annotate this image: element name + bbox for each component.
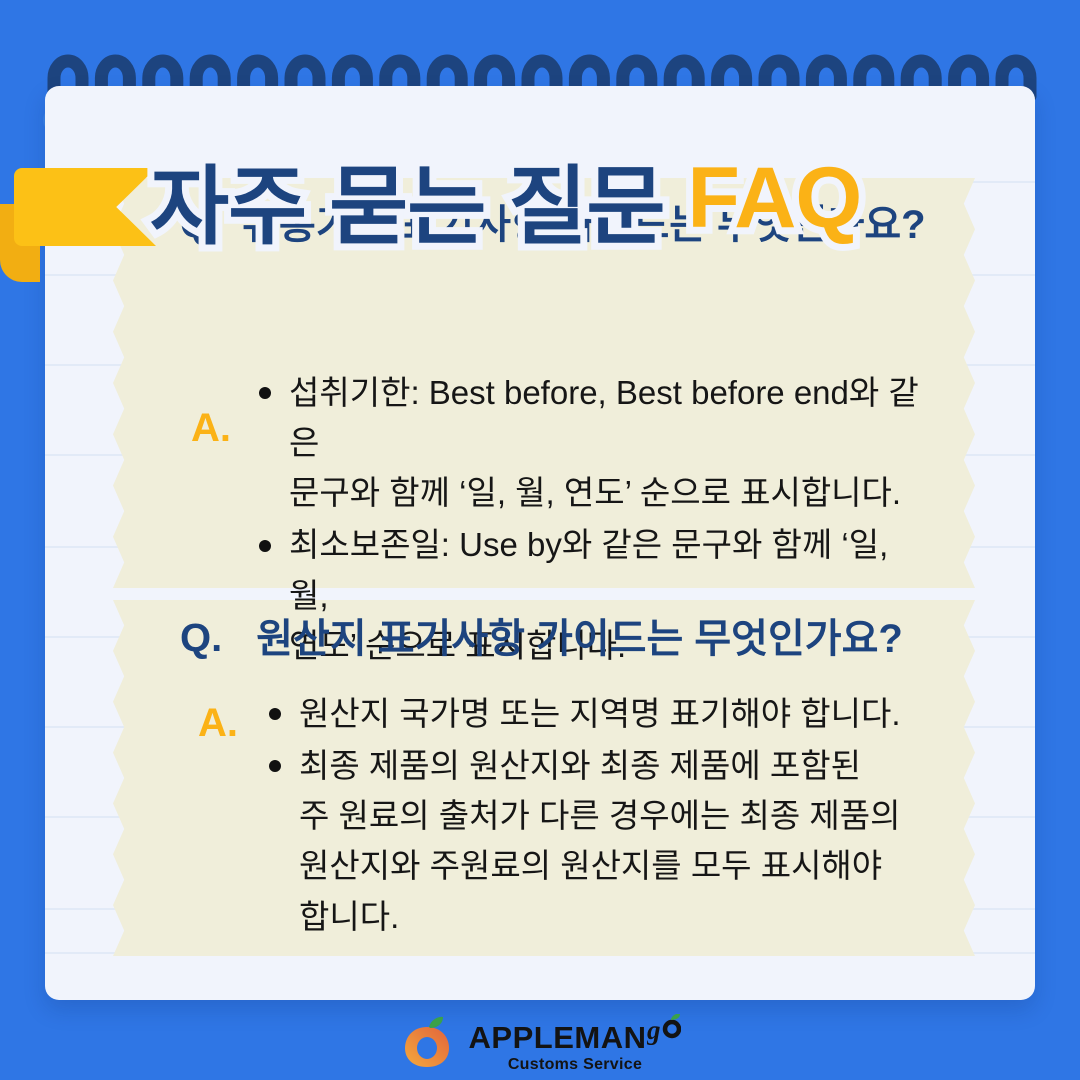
faq-2-answer-2-line-2: 주 원료의 출처가 다른 경우에는 최종 제품의 [299,797,901,834]
faq-2-answer-list: 원산지 국가명 또는 지역명 표기해야 합니다. 최종 제품의 원산지와 최종 … [263,689,943,944]
faq-2-answer-2-line-4: 합니다. [299,898,399,935]
brand-tagline: Customs Service [508,1057,642,1073]
faq-2-q-label: Q. [180,618,222,658]
faq-2-answer-2-line-1: 최종 제품의 원산지와 최종 제품에 포함된 [299,747,861,784]
brand-go-icon: g [647,1014,681,1048]
faq-2-answer-2-line-3: 원산지와 주원료의 원산지를 모두 표시해야 [299,847,882,884]
brand-wordmark: APPLEMAN g [469,1014,682,1053]
ribbon-flag [14,168,156,246]
brand-name-part1: APPLEMAN [469,1022,647,1053]
faq-1-a-label: A. [191,408,231,448]
faq-2-answer-1-line-1: 원산지 국가명 또는 지역명 표기해야 합니다. [299,695,901,732]
bullet-icon [259,387,271,399]
bookmark-ribbon [0,168,160,246]
faq-2-question-row: Q. 원산지 표기사항 가이드는 무엇인가요? [180,618,903,660]
faq-2-a-label: A. [198,703,238,743]
page-title: 자주 묻는 질문 FAQ [150,142,970,254]
list-item: 최종 제품의 원산지와 최종 제품에 포함된 주 원료의 출처가 다른 경우에는… [263,741,943,942]
faq-1-answer-2-line-1: 최소보존일: Use by와 같은 문구와 함께 ‘일, 월, [289,526,888,613]
brand-logo: APPLEMAN g Customs Service [0,1012,1080,1074]
faq-2-question-text: 원산지 표기사항 가이드는 무엇인가요? [256,618,903,660]
bullet-icon [259,540,271,552]
page-title-accent: FAQ [687,149,861,248]
faq-1-answer-1-line-1: 섭취기한: Best before, Best before end와 같은 [289,374,919,461]
list-item: 원산지 국가명 또는 지역명 표기해야 합니다. [263,689,943,739]
bullet-icon [269,708,281,720]
list-item: 섭취기한: Best before, Best before end와 같은 문… [253,368,933,518]
brand-text: APPLEMAN g Customs Service [469,1014,682,1073]
faq-1-answer-1-line-2: 문구와 함께 ‘일, 월, 연도’ 순으로 표시합니다. [289,474,901,511]
apple-mango-logo-icon [399,1015,455,1071]
page-title-main: 자주 묻는 질문 [150,136,665,261]
svg-text:g: g [647,1015,661,1045]
bullet-icon [269,760,281,772]
